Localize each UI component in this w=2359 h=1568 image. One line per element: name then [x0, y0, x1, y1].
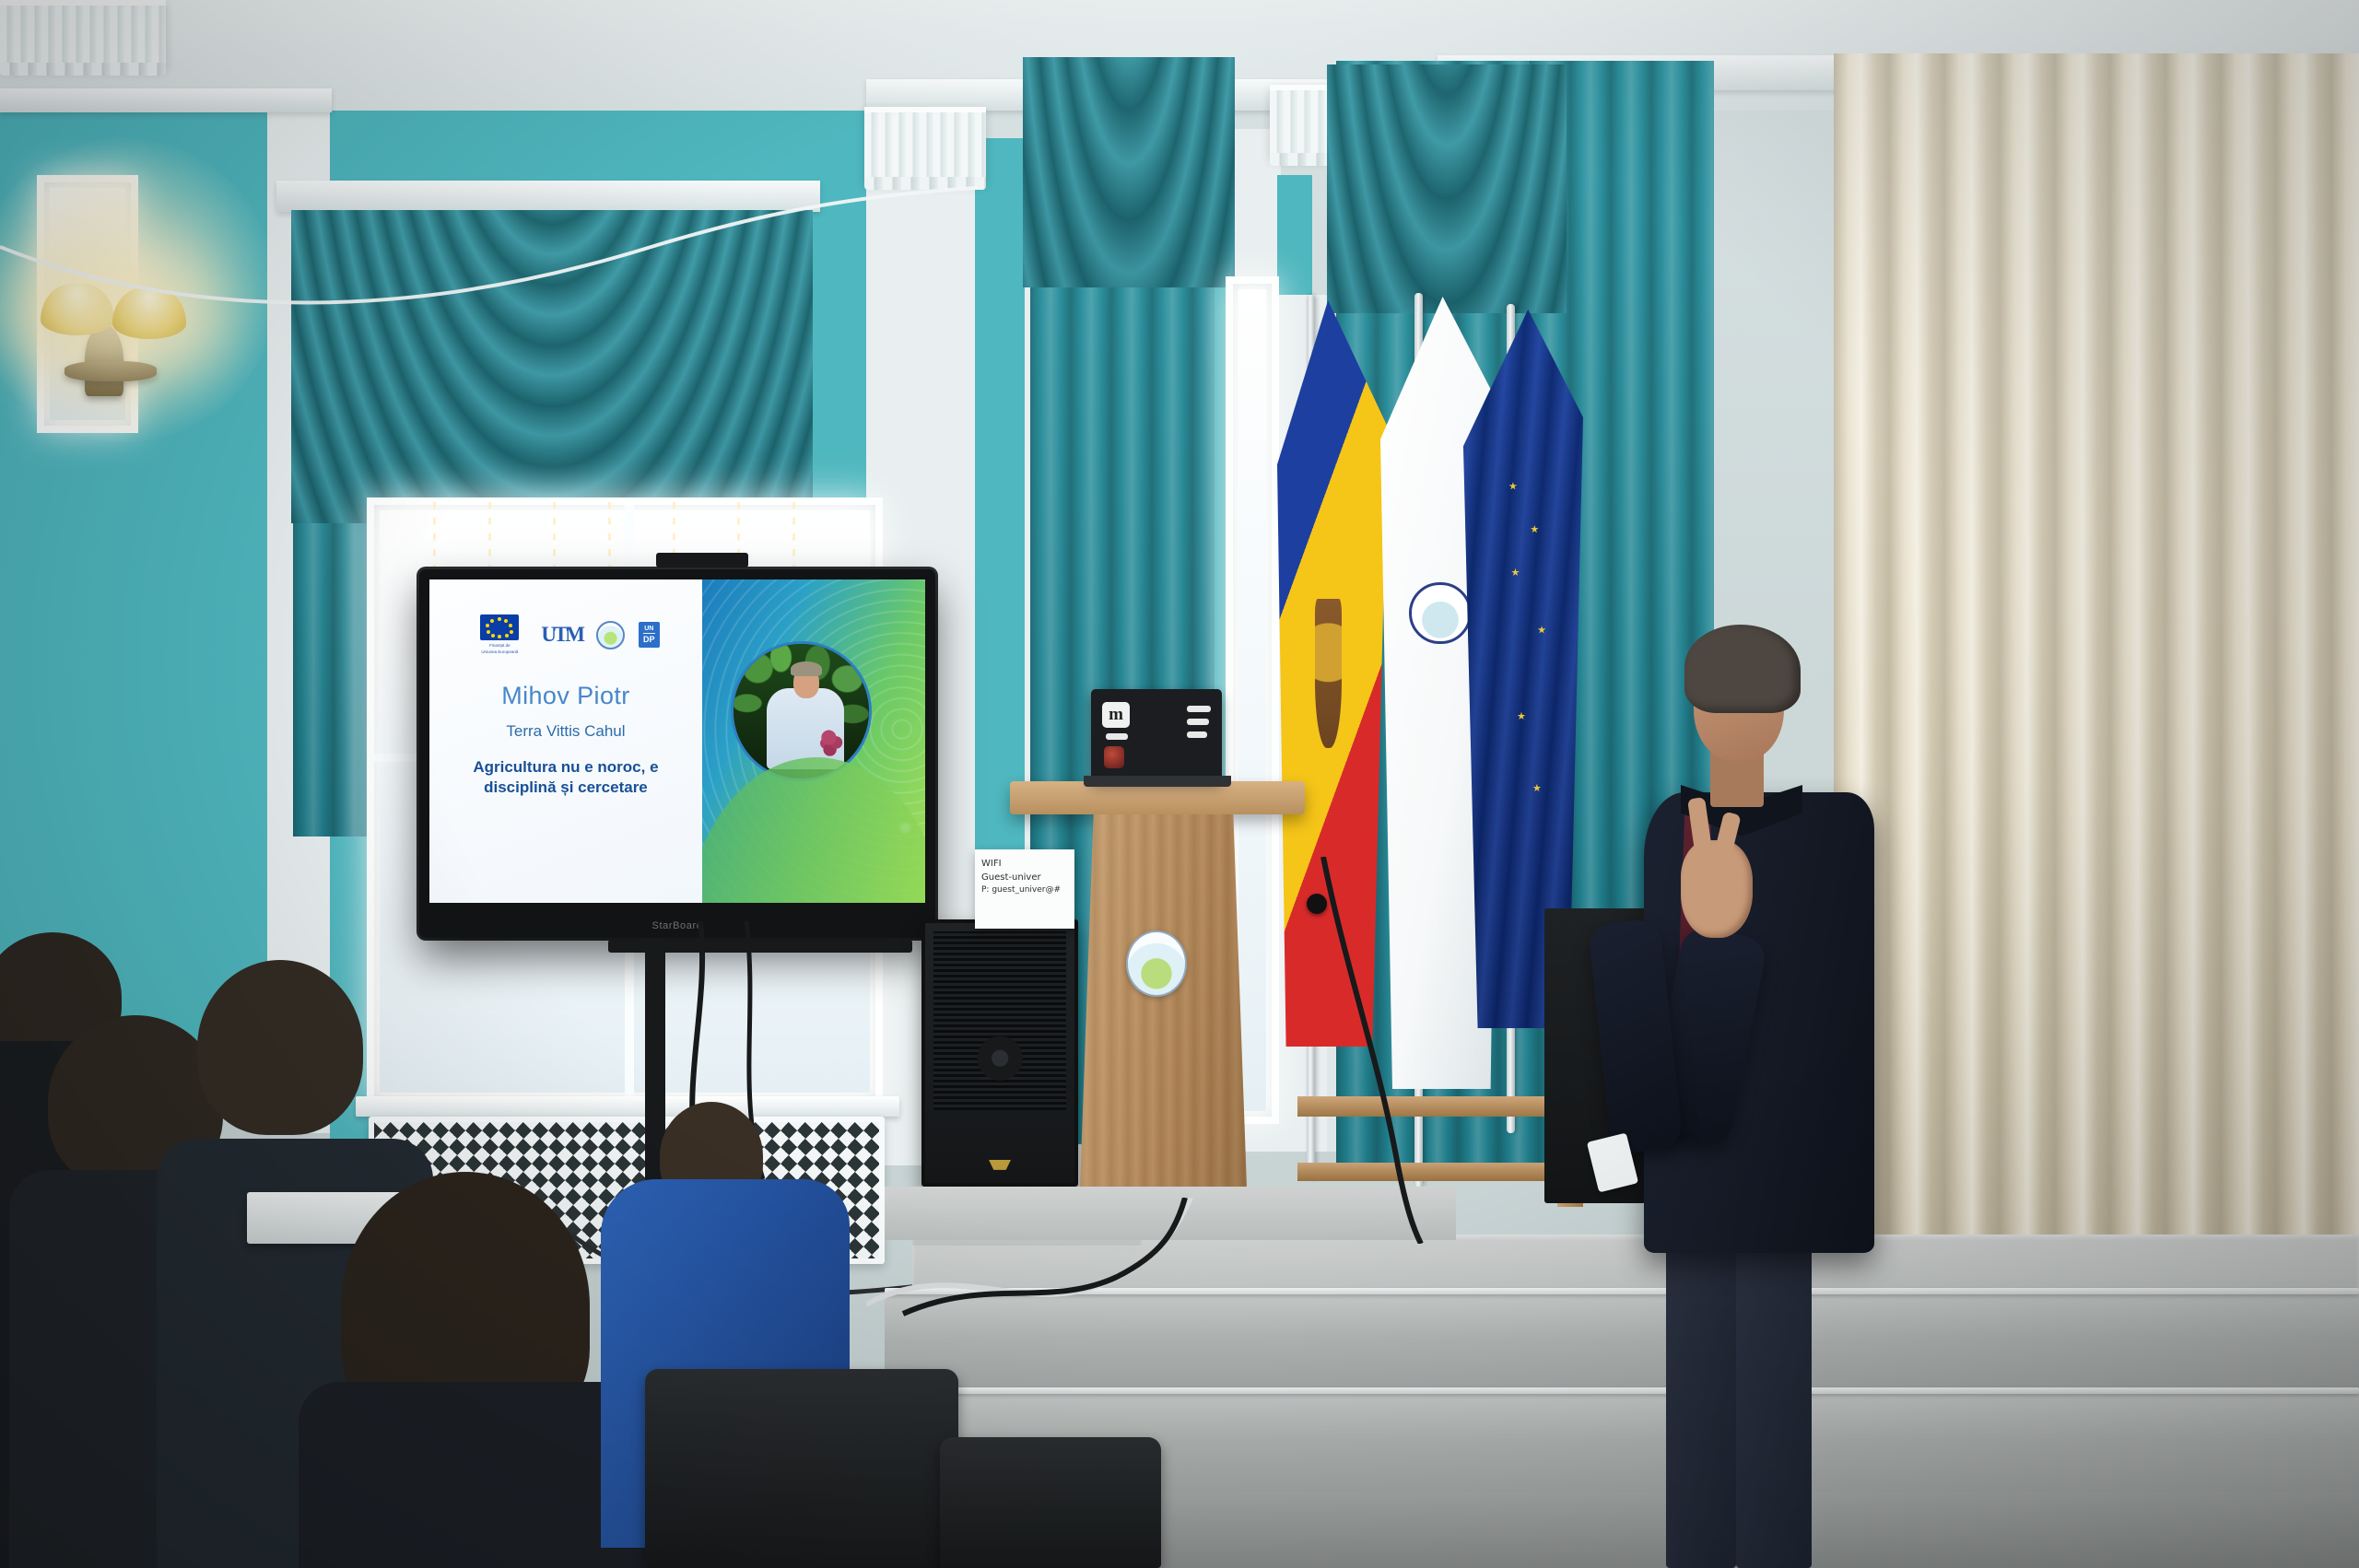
podium-laptop-base: [1084, 776, 1231, 787]
auditorium-chair: [940, 1437, 1161, 1568]
wall-sconce-lamp: [112, 287, 186, 339]
undp-logo: UN DP: [639, 622, 660, 648]
wifi-info-note: WIFI Guest-univer P: guest_univer@#: [975, 849, 1074, 929]
stage-step-upper: [885, 1290, 2359, 1389]
university-emblem: [1126, 930, 1187, 997]
undp-logo-line2: DP: [643, 635, 655, 644]
slide-accent-dot: [901, 824, 910, 832]
grapes-in-portrait: [817, 728, 846, 763]
eu-logo-caption-line2: Uniunea Europeană: [481, 649, 518, 654]
moldova-flag: [1277, 300, 1388, 1047]
slide-headline: Agricultura nu e noroc, e disciplină și …: [457, 757, 675, 797]
audience-torso: [299, 1382, 649, 1568]
eu-flag-logo: [480, 614, 519, 640]
wall-mounted-display[interactable]: Finanțat de Uniunea Europeană UTM UN DP …: [419, 569, 935, 938]
valance-pelmet: [276, 181, 820, 212]
curtain-swag-left: [1023, 57, 1235, 287]
presenter-leg-left: [1666, 1225, 1736, 1568]
display-brand-label: StarBoard: [652, 920, 703, 931]
presenter-leg-right: [1736, 1225, 1812, 1568]
podium-microphone-knob: [1307, 894, 1327, 914]
sconce-crossbar: [65, 361, 157, 381]
eu-logo-caption-line1: Finanțat de: [489, 643, 511, 648]
stage-step-nosing-upper: [885, 1288, 2359, 1294]
wifi-note-line3: P: guest_univer@#: [981, 884, 1068, 897]
slide-speaker-name: Mihov Piotr: [501, 682, 629, 710]
wall-sconce-lamp: [41, 284, 114, 335]
slide-headline-line2: disciplină și cercetare: [484, 778, 648, 796]
pa-speaker-cabinet: [921, 919, 1078, 1187]
slide-text-panel: Finanțat de Uniunea Europeană UTM UN DP …: [429, 579, 702, 903]
laptop-brand-sticker: m: [1102, 702, 1130, 728]
window-sill: [356, 1096, 899, 1117]
laptop-sticker-round: [1104, 746, 1124, 768]
cornice-left: [0, 88, 332, 112]
university-seal-logo: [596, 621, 625, 649]
utm-logo: UTM: [541, 623, 582, 647]
presenter-hair: [1684, 625, 1801, 713]
university-seal: [1409, 582, 1472, 645]
audience-head: [197, 960, 363, 1135]
slide-logo-row: Finanțat de Uniunea Europeană UTM UN DP: [472, 614, 659, 654]
podium-laptop[interactable]: m: [1091, 689, 1222, 781]
stage-curtain-cream-edge: [2276, 53, 2359, 1417]
slide-image-panel: [702, 579, 925, 903]
curtain-swag-right: [1327, 64, 1567, 313]
conference-hall-photo: Finanțat de Uniunea Europeană UTM UN DP …: [0, 0, 2359, 1568]
column-capital-corner: [0, 0, 166, 68]
slide-headline-line1: Agricultura nu e noroc, e: [473, 758, 658, 776]
stage-floor-strip: [885, 1187, 1456, 1240]
moldova-coat-of-arms: [1315, 599, 1342, 748]
wifi-note-line1: WIFI: [981, 857, 1068, 871]
display-stand-arm: [608, 940, 912, 953]
window-curtain-swag: [291, 210, 813, 523]
podium-column: [1078, 814, 1249, 1238]
undp-logo-line1: UN: [643, 626, 655, 634]
wifi-note-line2: Guest-univer: [981, 871, 1068, 884]
column-capital-left: [864, 107, 986, 182]
auditorium-chair: [645, 1369, 958, 1568]
presentation-slide: Finanțat de Uniunea Europeană UTM UN DP …: [429, 579, 925, 903]
sconce-arm: [85, 324, 123, 396]
stage-step-nosing-lower: [857, 1387, 2359, 1394]
slide-organization: Terra Vittis Cahul: [506, 722, 625, 741]
display-bezel: Finanțat de Uniunea Europeană UTM UN DP …: [429, 579, 925, 903]
speaker-portrait-photo: [731, 641, 872, 782]
display-top-bracket: [656, 553, 748, 568]
